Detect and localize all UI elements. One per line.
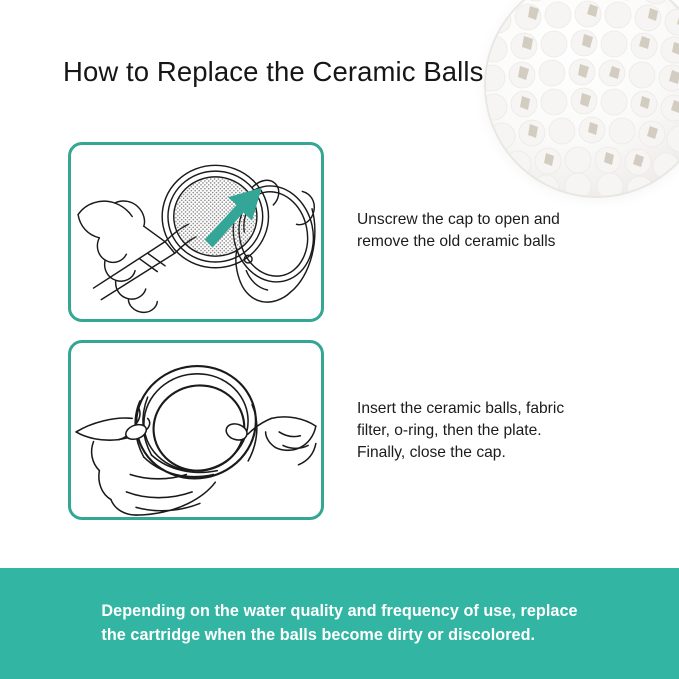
hands-inserting-cartridge-parts-icon (71, 343, 321, 517)
step-1-text: Unscrew the cap to open and remove the o… (357, 209, 560, 253)
step-2-illustration-container (68, 340, 324, 520)
step-1-illustration-container (68, 142, 324, 322)
ceramic-balls-photo-detail (484, 0, 679, 198)
note-banner: Depending on the water quality and frequ… (0, 568, 679, 679)
step-2-text: Insert the ceramic balls, fabric filter,… (357, 398, 564, 464)
ceramic-balls-photo (484, 0, 679, 198)
step-2-illustration-box (68, 340, 324, 520)
step-1-illustration-box (68, 142, 324, 322)
note-banner-text: Depending on the water quality and frequ… (97, 600, 581, 648)
infographic-page: How to Replace the Ceramic Balls (0, 0, 679, 679)
hand-holding-shower-head-icon (71, 145, 321, 319)
page-title: How to Replace the Ceramic Balls (63, 56, 483, 88)
